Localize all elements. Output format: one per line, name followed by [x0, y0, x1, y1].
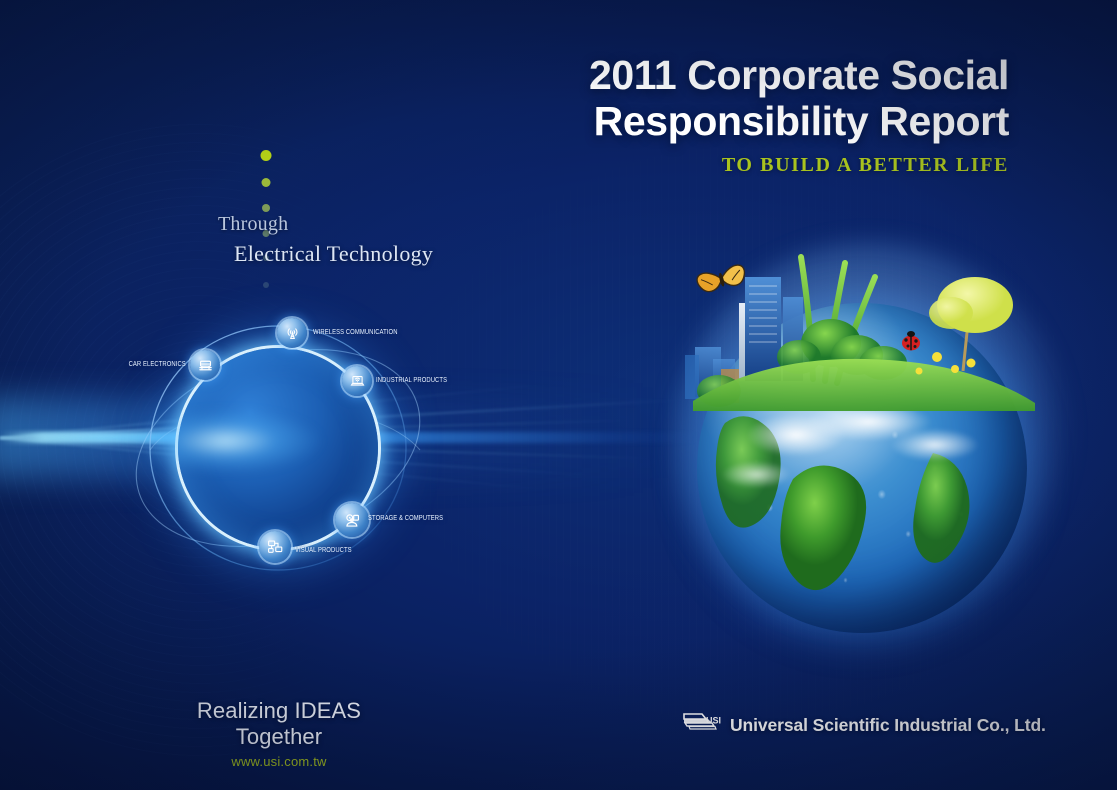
- website-url[interactable]: www.usi.com.tw: [160, 754, 398, 769]
- node-wireless-communication[interactable]: [277, 318, 307, 348]
- ladybug-icon: [902, 331, 920, 351]
- node-industrial-products[interactable]: [342, 366, 372, 396]
- cover-subtitle: TO BUILD A BETTER LIFE: [589, 154, 1009, 177]
- svg-text:USI: USI: [706, 716, 721, 726]
- butterfly-icon: [696, 264, 748, 294]
- antenna-icon: [284, 325, 301, 342]
- dot: [262, 178, 271, 187]
- node-storage-computers[interactable]: [335, 503, 369, 537]
- through-text: Through: [218, 213, 288, 236]
- globe-light-flare: [150, 396, 420, 486]
- title-line-2: Responsibility Report: [589, 98, 1009, 144]
- dot: [262, 204, 270, 212]
- node-car-electronics[interactable]: [190, 350, 220, 380]
- title-line-1: 2011 Corporate Social: [589, 52, 1009, 98]
- cover-title-block: 2011 Corporate Social 2011 Corporate Soc…: [589, 52, 1009, 177]
- eco-globe-scenery: [679, 251, 1049, 411]
- dot: [263, 282, 269, 288]
- label-storage-computers: STORAGE & COMPUTERS: [368, 513, 443, 522]
- car-icon: [197, 357, 214, 374]
- dot: [261, 150, 272, 161]
- label-visual-products: VISUAL PRODUCTS: [295, 545, 352, 554]
- label-wireless-communication: WIRELESS COMMUNICATION: [313, 327, 398, 336]
- electrical-technology-text: Electrical Technology: [234, 241, 433, 267]
- storage-icon: [343, 511, 362, 530]
- node-visual-products[interactable]: [259, 531, 291, 563]
- label-car-electronics: CAR ELECTRONICS: [129, 359, 186, 368]
- usi-logo-icon: USI: [682, 712, 728, 739]
- technology-globe: CAR ELECTRONICS WIRELESS COMMUNICATION I…: [120, 300, 460, 590]
- company-name: Universal Scientific Industrial Co., Ltd…: [730, 715, 1046, 736]
- brand-slogan-block: Realizing IDEAS Together www.usi.com.tw: [160, 698, 398, 769]
- screens-icon: [266, 538, 284, 556]
- laptop-icon: [349, 373, 366, 390]
- slogan-text: Realizing IDEAS Together: [160, 698, 398, 750]
- label-industrial-products: INDUSTRIAL PRODUCTS: [376, 375, 447, 384]
- eco-globe-illustration: [655, 225, 1085, 655]
- company-signature: USI Universal Scientific Industrial Co.,…: [682, 712, 1046, 739]
- report-cover: CAR ELECTRONICS WIRELESS COMMUNICATION I…: [0, 0, 1117, 790]
